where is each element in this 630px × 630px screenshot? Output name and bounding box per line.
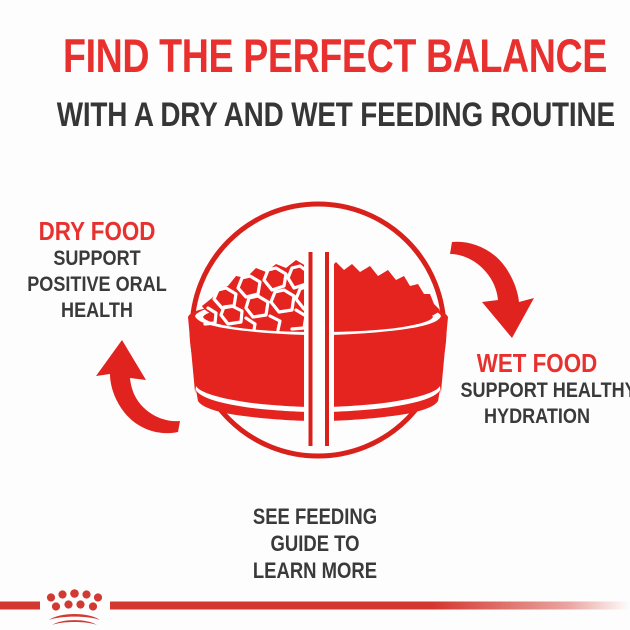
dry-food-block: DRY FOOD SUPPORT POSITIVE ORAL HEALTH — [8, 216, 186, 324]
dry-food-line-2: POSITIVE ORAL — [20, 272, 173, 298]
poster-canvas: FIND THE PERFECT BALANCE WITH A DRY AND … — [0, 0, 630, 630]
footer-bar-left — [0, 602, 40, 610]
dry-food-kibble — [202, 260, 318, 330]
dry-food-heading: DRY FOOD — [20, 216, 173, 246]
wet-food-heading: WET FOOD — [460, 348, 613, 378]
curved-arrow-up-left-icon — [96, 340, 180, 433]
caption-line-2: GUIDE TO — [50, 530, 579, 557]
page-subtitle: WITH A DRY AND WET FEEDING ROUTINE — [57, 96, 574, 134]
footer-bar-right — [110, 602, 630, 610]
royal-canin-crown-logo — [47, 589, 102, 625]
wet-food-line-1: SUPPORT HEALTHY — [460, 378, 613, 404]
dog-food-bowl-icon — [188, 252, 448, 446]
caption-line-3: LEARN MORE — [50, 557, 579, 584]
curved-arrow-down-right-icon — [450, 242, 534, 338]
wet-food-line-2: HYDRATION — [460, 404, 613, 430]
feeding-guide-caption: SEE FEEDING GUIDE TO LEARN MORE — [0, 503, 630, 584]
footer-brand-bar — [0, 585, 630, 630]
circle-outline — [192, 204, 444, 456]
dry-food-line-1: SUPPORT — [20, 246, 173, 272]
wet-food-block: WET FOOD SUPPORT HEALTHY HYDRATION — [448, 348, 626, 430]
bowl-divider — [304, 252, 334, 446]
caption-line-1: SEE FEEDING — [50, 503, 579, 530]
page-title: FIND THE PERFECT BALANCE — [63, 30, 567, 82]
wet-food-mound — [318, 262, 440, 330]
dry-food-line-3: HEALTH — [20, 298, 173, 324]
